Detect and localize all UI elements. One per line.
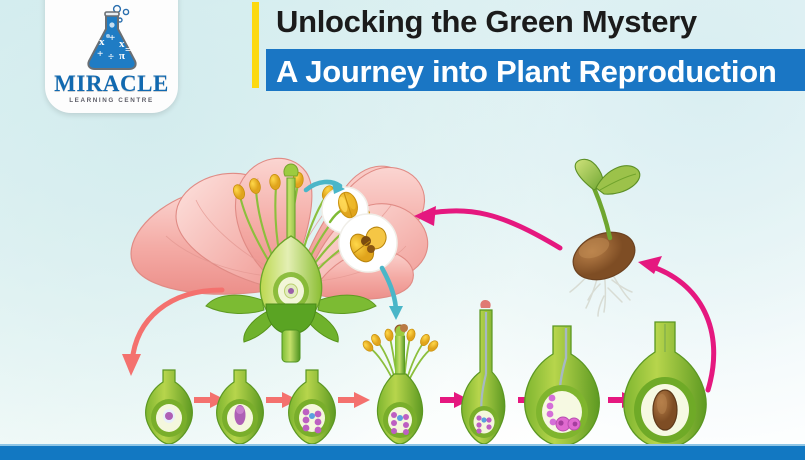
ovary-stage-7 xyxy=(624,322,706,448)
svg-text:+: + xyxy=(109,32,115,44)
ovary-stage-4 xyxy=(361,324,440,444)
arrow-seedling-to-flower xyxy=(414,206,560,248)
seedling-cotyledon-right xyxy=(596,166,640,194)
ovary-stage-5 xyxy=(462,300,505,444)
page-subtitle: A Journey into Plant Reproduction xyxy=(276,54,776,90)
page-title: Unlocking the Green Mystery xyxy=(276,4,697,40)
logo-tagline: LEARNING CENTRE xyxy=(69,97,154,104)
arrow-flower-to-stage1 xyxy=(122,290,222,376)
pollen-grain-closeup-callout xyxy=(339,214,397,272)
brand-logo-card[interactable]: x+ x+ ÷π = MIRACLE LEARNING CENTRE xyxy=(45,0,178,113)
title-accent-bar xyxy=(252,2,259,88)
sepal-group xyxy=(206,295,376,362)
svg-text:=: = xyxy=(125,44,131,56)
flask-icon: x+ x+ ÷π = xyxy=(79,3,145,71)
svg-text:+: + xyxy=(97,48,103,60)
svg-text:x: x xyxy=(99,36,105,48)
ovary-stage-1 xyxy=(146,370,193,444)
footer-bar xyxy=(0,446,805,460)
germinating-seedling xyxy=(566,159,642,316)
ovary-stage-6 xyxy=(525,326,599,446)
infographic-canvas: x+ x+ ÷π = MIRACLE LEARNING CENTRE Unloc… xyxy=(0,0,805,460)
seedling-shoot xyxy=(594,188,610,238)
seed-coat xyxy=(566,224,642,289)
arrow-stage3-to-stage4 xyxy=(338,392,370,408)
ovary-stage-3 xyxy=(289,370,336,444)
ovary-stage-2 xyxy=(217,370,264,444)
svg-text:÷: ÷ xyxy=(108,51,114,63)
logo-wordmark: MIRACLE xyxy=(54,72,169,95)
